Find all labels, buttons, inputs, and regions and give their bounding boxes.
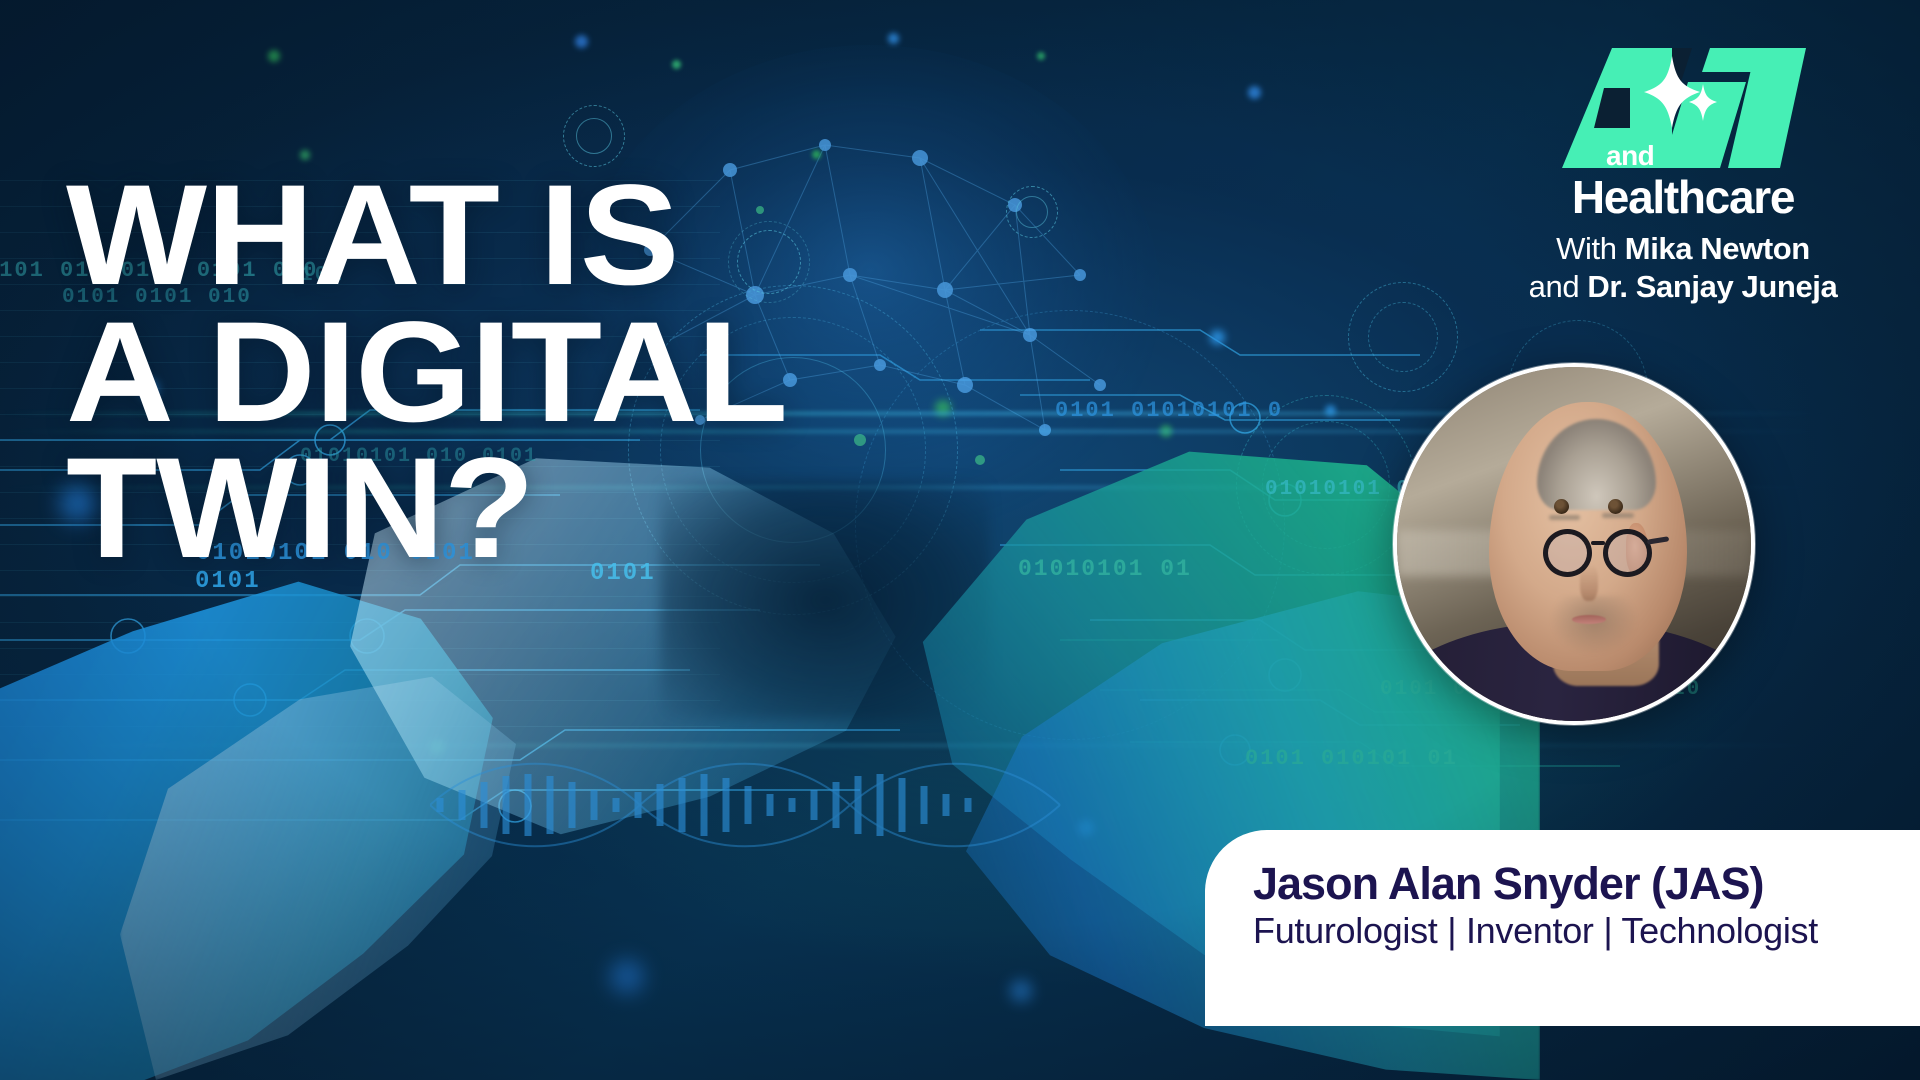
guest-avatar (1393, 363, 1755, 725)
thumbnail-canvas: 0101 01010101 0101 010 0101 0101 010 101… (0, 0, 1920, 1080)
host-line-1: With Mika Newton (1468, 230, 1898, 268)
portrait-mouth (1572, 615, 1606, 624)
host-name-1: Mika Newton (1625, 231, 1810, 266)
glasses-lens-left (1543, 529, 1592, 577)
ai-logo-mark: and (1560, 48, 1806, 168)
title-line-2: A DIGITAL (66, 305, 787, 442)
with-prefix: With (1556, 231, 1625, 266)
show-logo-block: and Healthcare With Mika Newton and Dr. … (1468, 48, 1898, 306)
title-line-3: TWIN? (66, 441, 787, 578)
portrait-hair (1537, 419, 1656, 510)
host-line-2: and Dr. Sanjay Juneja (1468, 268, 1898, 306)
guest-name-card: Jason Alan Snyder (JAS) Futurologist | I… (1205, 830, 1920, 1026)
logo-healthcare-label: Healthcare (1468, 174, 1898, 220)
glasses-temple (1647, 536, 1669, 544)
guest-roles: Futurologist | Inventor | Technologist (1253, 911, 1897, 951)
logo-and-label: and (1606, 140, 1654, 172)
page-title: WHAT IS A DIGITAL TWIN? (66, 168, 787, 578)
guest-name: Jason Alan Snyder (JAS) (1253, 860, 1897, 909)
host-name-2: Dr. Sanjay Juneja (1587, 269, 1837, 304)
glasses-bridge (1591, 541, 1605, 545)
logo-hosts: With Mika Newton and Dr. Sanjay Juneja (1468, 230, 1898, 306)
portrait-stubble (1550, 596, 1637, 655)
glasses-icon (1543, 529, 1652, 577)
and-prefix: and (1529, 269, 1588, 304)
portrait-eyebrow-left (1549, 515, 1581, 520)
portrait-eye-right (1608, 499, 1623, 514)
title-line-1: WHAT IS (66, 168, 787, 305)
portrait-eye-left (1554, 499, 1569, 514)
glasses-lens-right (1603, 529, 1652, 577)
